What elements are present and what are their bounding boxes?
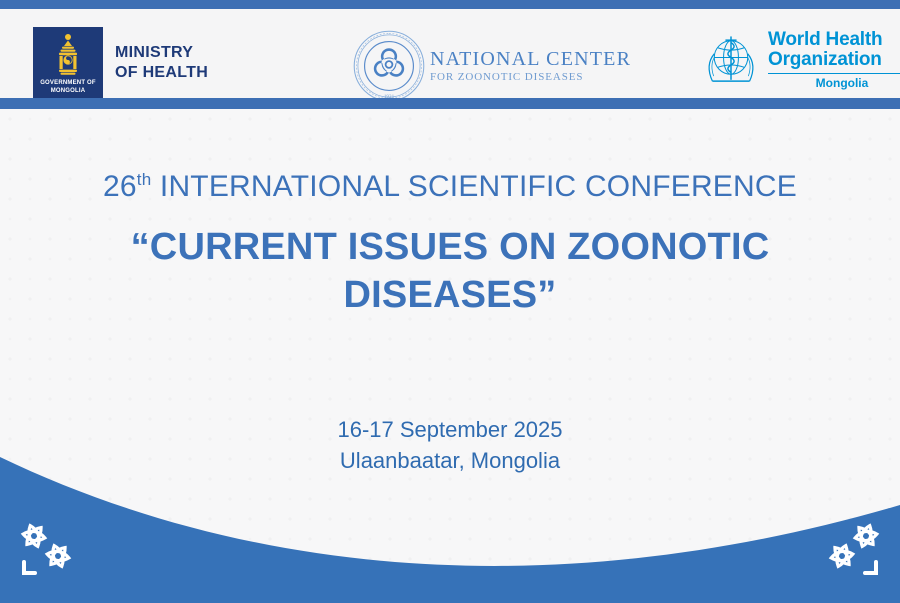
ordinal-suffix: th bbox=[137, 170, 152, 189]
event-date: 16-17 September 2025 bbox=[0, 414, 900, 445]
emblem-caption: GOVERNMENT OF MONGOLIA bbox=[33, 79, 103, 95]
logo-ministry-of-health: GOVERNMENT OF MONGOLIA MINISTRY OF HEALT… bbox=[33, 27, 208, 99]
logo-world-health-organization: World Health Organization Mongolia bbox=[700, 29, 900, 91]
header-accent-bar bbox=[0, 98, 900, 109]
ministry-of-health-name: MINISTRY OF HEALTH bbox=[115, 43, 208, 83]
soyombo-emblem-icon: GOVERNMENT OF MONGOLIA bbox=[33, 27, 103, 99]
conference-title-slide: GOVERNMENT OF MONGOLIA MINISTRY OF HEALT… bbox=[0, 0, 900, 603]
mongolian-triquetra-knot-ornament-left bbox=[14, 518, 86, 580]
curved-wave-divider bbox=[0, 443, 900, 603]
top-accent-bar bbox=[0, 0, 900, 9]
page-title: “CURRENT ISSUES ON ZOONOTIC DISEASES” bbox=[0, 223, 900, 319]
who-rod-of-asclepius-icon bbox=[700, 29, 762, 91]
title-block: 26th INTERNATIONAL SCIENTIFIC CONFERENCE… bbox=[0, 169, 900, 319]
conference-kicker: 26th INTERNATIONAL SCIENTIFIC CONFERENCE bbox=[0, 169, 900, 205]
mongolian-triquetra-knot-ornament-right bbox=[814, 518, 886, 580]
who-divider bbox=[768, 73, 900, 75]
slide-body: 26th INTERNATIONAL SCIENTIFIC CONFERENCE… bbox=[0, 109, 900, 603]
soyombo-symbol-icon bbox=[53, 33, 83, 79]
logo-header: GOVERNMENT OF MONGOLIA MINISTRY OF HEALT… bbox=[0, 9, 900, 98]
logo-national-center-zoonotic-diseases: 1931 NATIONAL CENTER FOR ZOONOTIC DISEAS… bbox=[352, 29, 631, 103]
who-name: World Health Organization Mongolia bbox=[768, 30, 900, 91]
national-center-name: NATIONAL CENTER FOR ZOONOTIC DISEASES bbox=[430, 49, 631, 83]
biohazard-seal-icon: 1931 bbox=[352, 29, 426, 103]
